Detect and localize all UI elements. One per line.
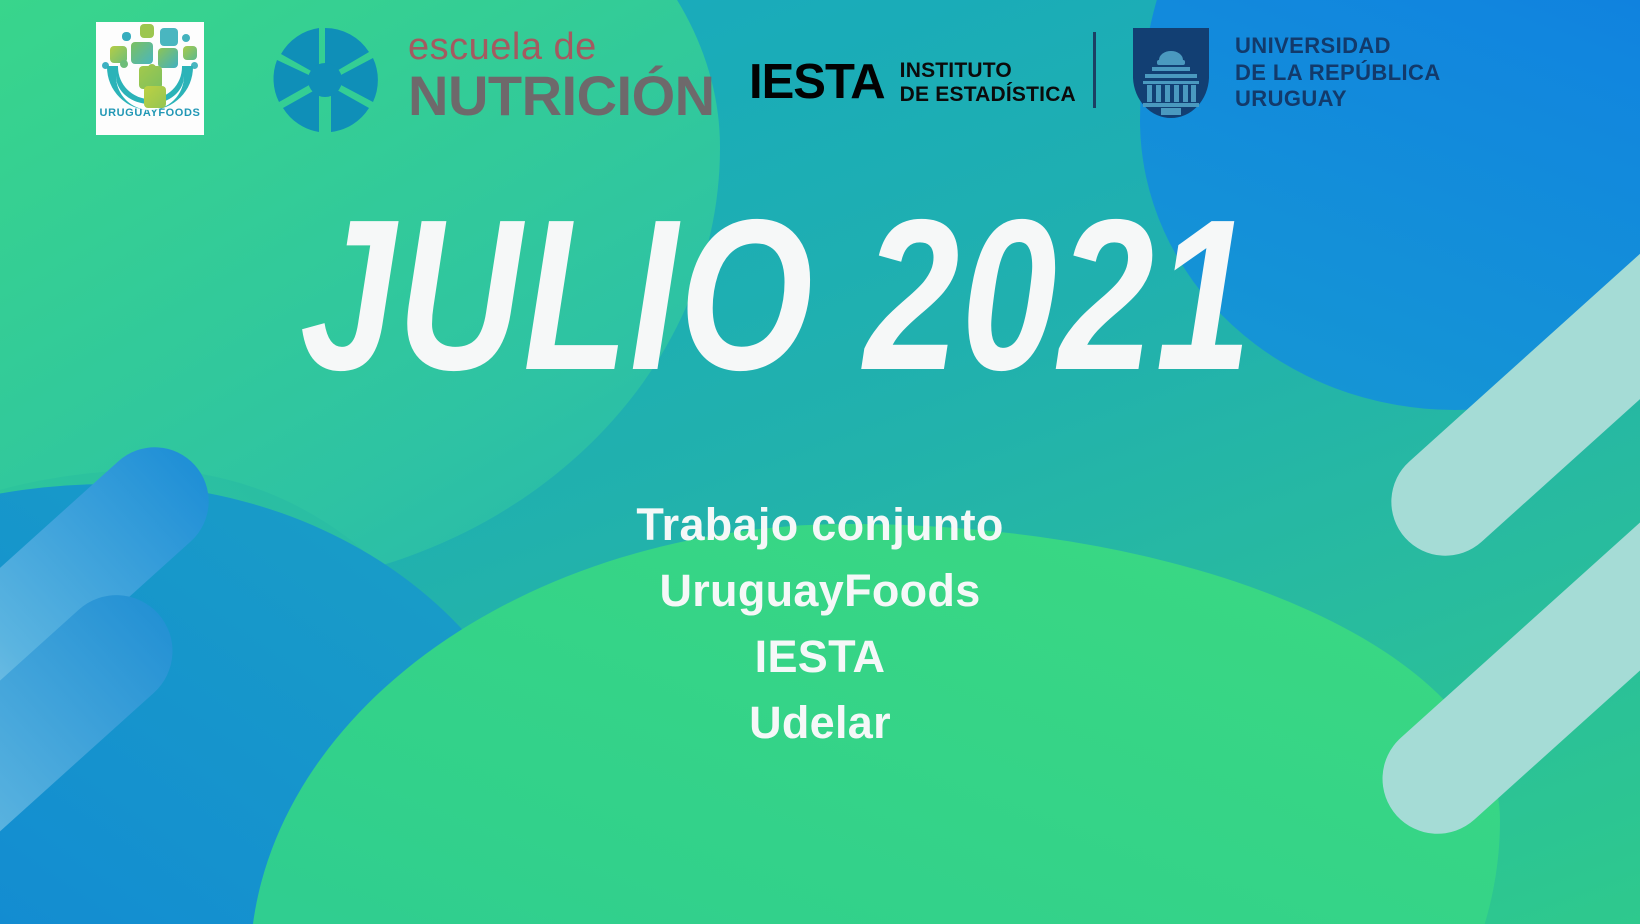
nutricion-line-1: escuela de — [408, 28, 715, 66]
iesta-subtitle: INSTITUTO DE ESTADÍSTICA — [900, 59, 1076, 106]
logo-bar: URUGUAYFOODS escuela de NUTRICIÓN — [0, 0, 1640, 158]
udelar-line-3: URUGUAY — [1235, 86, 1441, 113]
iesta-acronym: IESTA — [749, 58, 885, 107]
subtitle-line-4: Udelar — [0, 690, 1640, 756]
iesta-sub-line-1: INSTITUTO — [900, 59, 1076, 83]
uruguayfoods-logo: URUGUAYFOODS — [96, 22, 204, 135]
udelar-wordmark: UNIVERSIDAD DE LA REPÚBLICA URUGUAY — [1235, 33, 1441, 113]
nutrition-wheel-icon — [263, 22, 387, 138]
nutricion-wordmark: escuela de NUTRICIÓN — [408, 28, 715, 124]
udelar-shield-icon — [1131, 26, 1211, 120]
udelar-line-2: DE LA REPÚBLICA — [1235, 60, 1441, 87]
udelar-line-1: UNIVERSIDAD — [1235, 33, 1441, 60]
slide-subtitle: Trabajo conjunto UruguayFoods IESTA Udel… — [0, 492, 1640, 757]
uruguayfoods-icon — [98, 22, 202, 110]
iesta-logo: IESTA INSTITUTO DE ESTADÍSTICA — [749, 58, 1076, 107]
nutricion-line-2: NUTRICIÓN — [408, 68, 715, 124]
subtitle-line-2: UruguayFoods — [0, 558, 1640, 624]
logo-divider — [1093, 32, 1096, 108]
subtitle-line-1: Trabajo conjunto — [0, 492, 1640, 558]
subtitle-line-3: IESTA — [0, 624, 1640, 690]
udelar-logo: UNIVERSIDAD DE LA REPÚBLICA URUGUAY — [1131, 26, 1441, 120]
presentation-slide: URUGUAYFOODS escuela de NUTRICIÓN — [0, 0, 1640, 924]
iesta-sub-line-2: DE ESTADÍSTICA — [900, 83, 1076, 107]
slide-title: JULIO 2021 — [300, 196, 1253, 394]
